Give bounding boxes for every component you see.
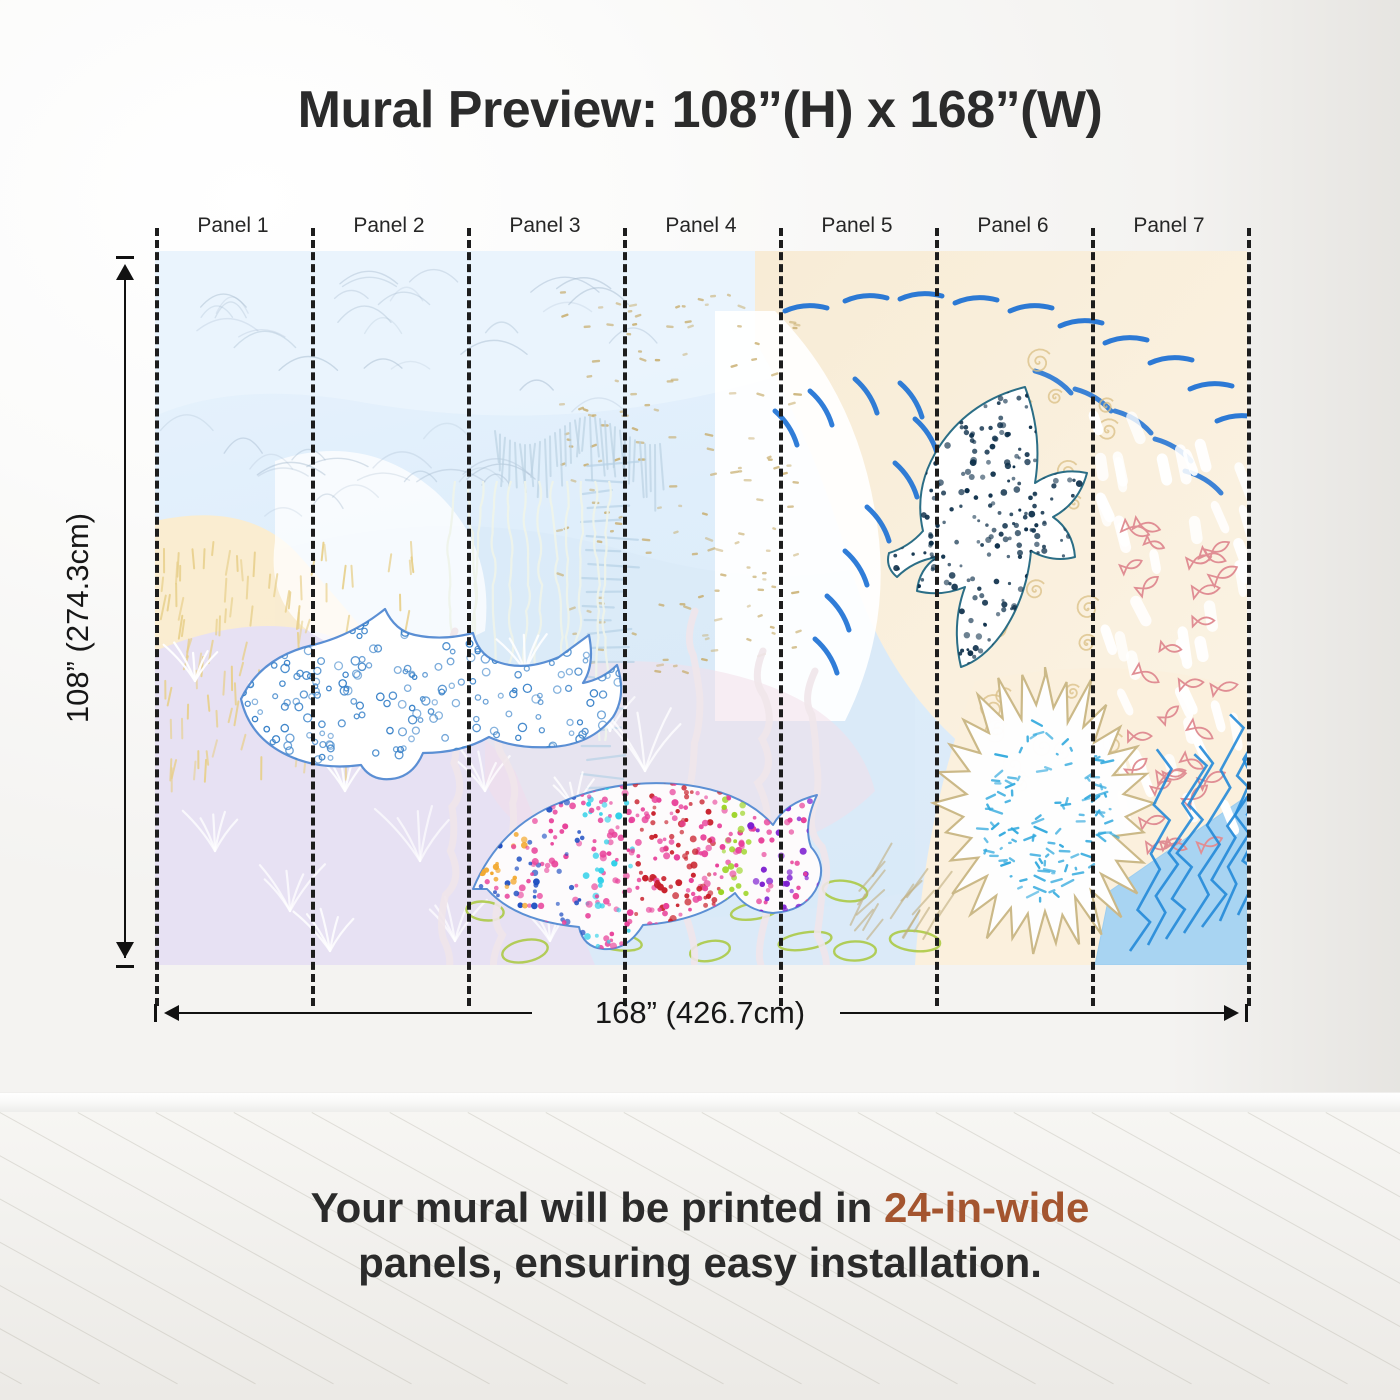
panel-label-4: Panel 4 — [623, 214, 779, 238]
mural-preview-page: Mural Preview: 108”(H) x 168”(W) Panel 1… — [0, 0, 1400, 1400]
height-tick-top — [116, 256, 134, 259]
panel-divider-5 — [935, 228, 939, 1006]
page-title: Mural Preview: 108”(H) x 168”(W) — [0, 80, 1400, 140]
width-line-left — [172, 1012, 532, 1014]
baseboard — [0, 1092, 1400, 1113]
panel-divider-6 — [1091, 228, 1095, 1006]
caption-line-2: panels, ensuring easy installation. — [0, 1235, 1400, 1290]
width-line-right — [840, 1012, 1230, 1014]
panel-divider-3 — [623, 228, 627, 1006]
panel-divider-7 — [1247, 228, 1251, 1006]
caption-line-1: Your mural will be printed in 24-in-wide — [0, 1180, 1400, 1235]
panel-divider-0 — [155, 228, 159, 1006]
panel-label-3: Panel 3 — [467, 214, 623, 238]
panel-label-6: Panel 6 — [935, 214, 1091, 238]
panel-label-row: Panel 1Panel 2Panel 3Panel 4Panel 5Panel… — [155, 214, 1247, 246]
width-arrow-right-icon — [1224, 1005, 1239, 1021]
panel-label-7: Panel 7 — [1091, 214, 1247, 238]
panel-divider-4 — [779, 228, 783, 1006]
panel-label-2: Panel 2 — [311, 214, 467, 238]
height-tick-bottom — [116, 965, 134, 968]
panel-label-5: Panel 5 — [779, 214, 935, 238]
height-arrow-down-icon — [116, 942, 134, 958]
caption-text-before: Your mural will be printed in — [311, 1184, 884, 1231]
height-line — [124, 268, 126, 958]
panel-label-1: Panel 1 — [155, 214, 311, 238]
caption-highlight: 24-in-wide — [884, 1184, 1089, 1231]
height-label: 108” (274.3cm) — [60, 408, 96, 828]
width-label: 168” (426.7cm) — [540, 995, 860, 1031]
width-tick-left — [154, 1004, 157, 1022]
footer-caption: Your mural will be printed in 24-in-wide… — [0, 1180, 1400, 1291]
mural-artwork — [155, 251, 1247, 965]
panel-divider-2 — [467, 228, 471, 1006]
width-tick-right — [1245, 1004, 1248, 1022]
panel-divider-1 — [311, 228, 315, 1006]
